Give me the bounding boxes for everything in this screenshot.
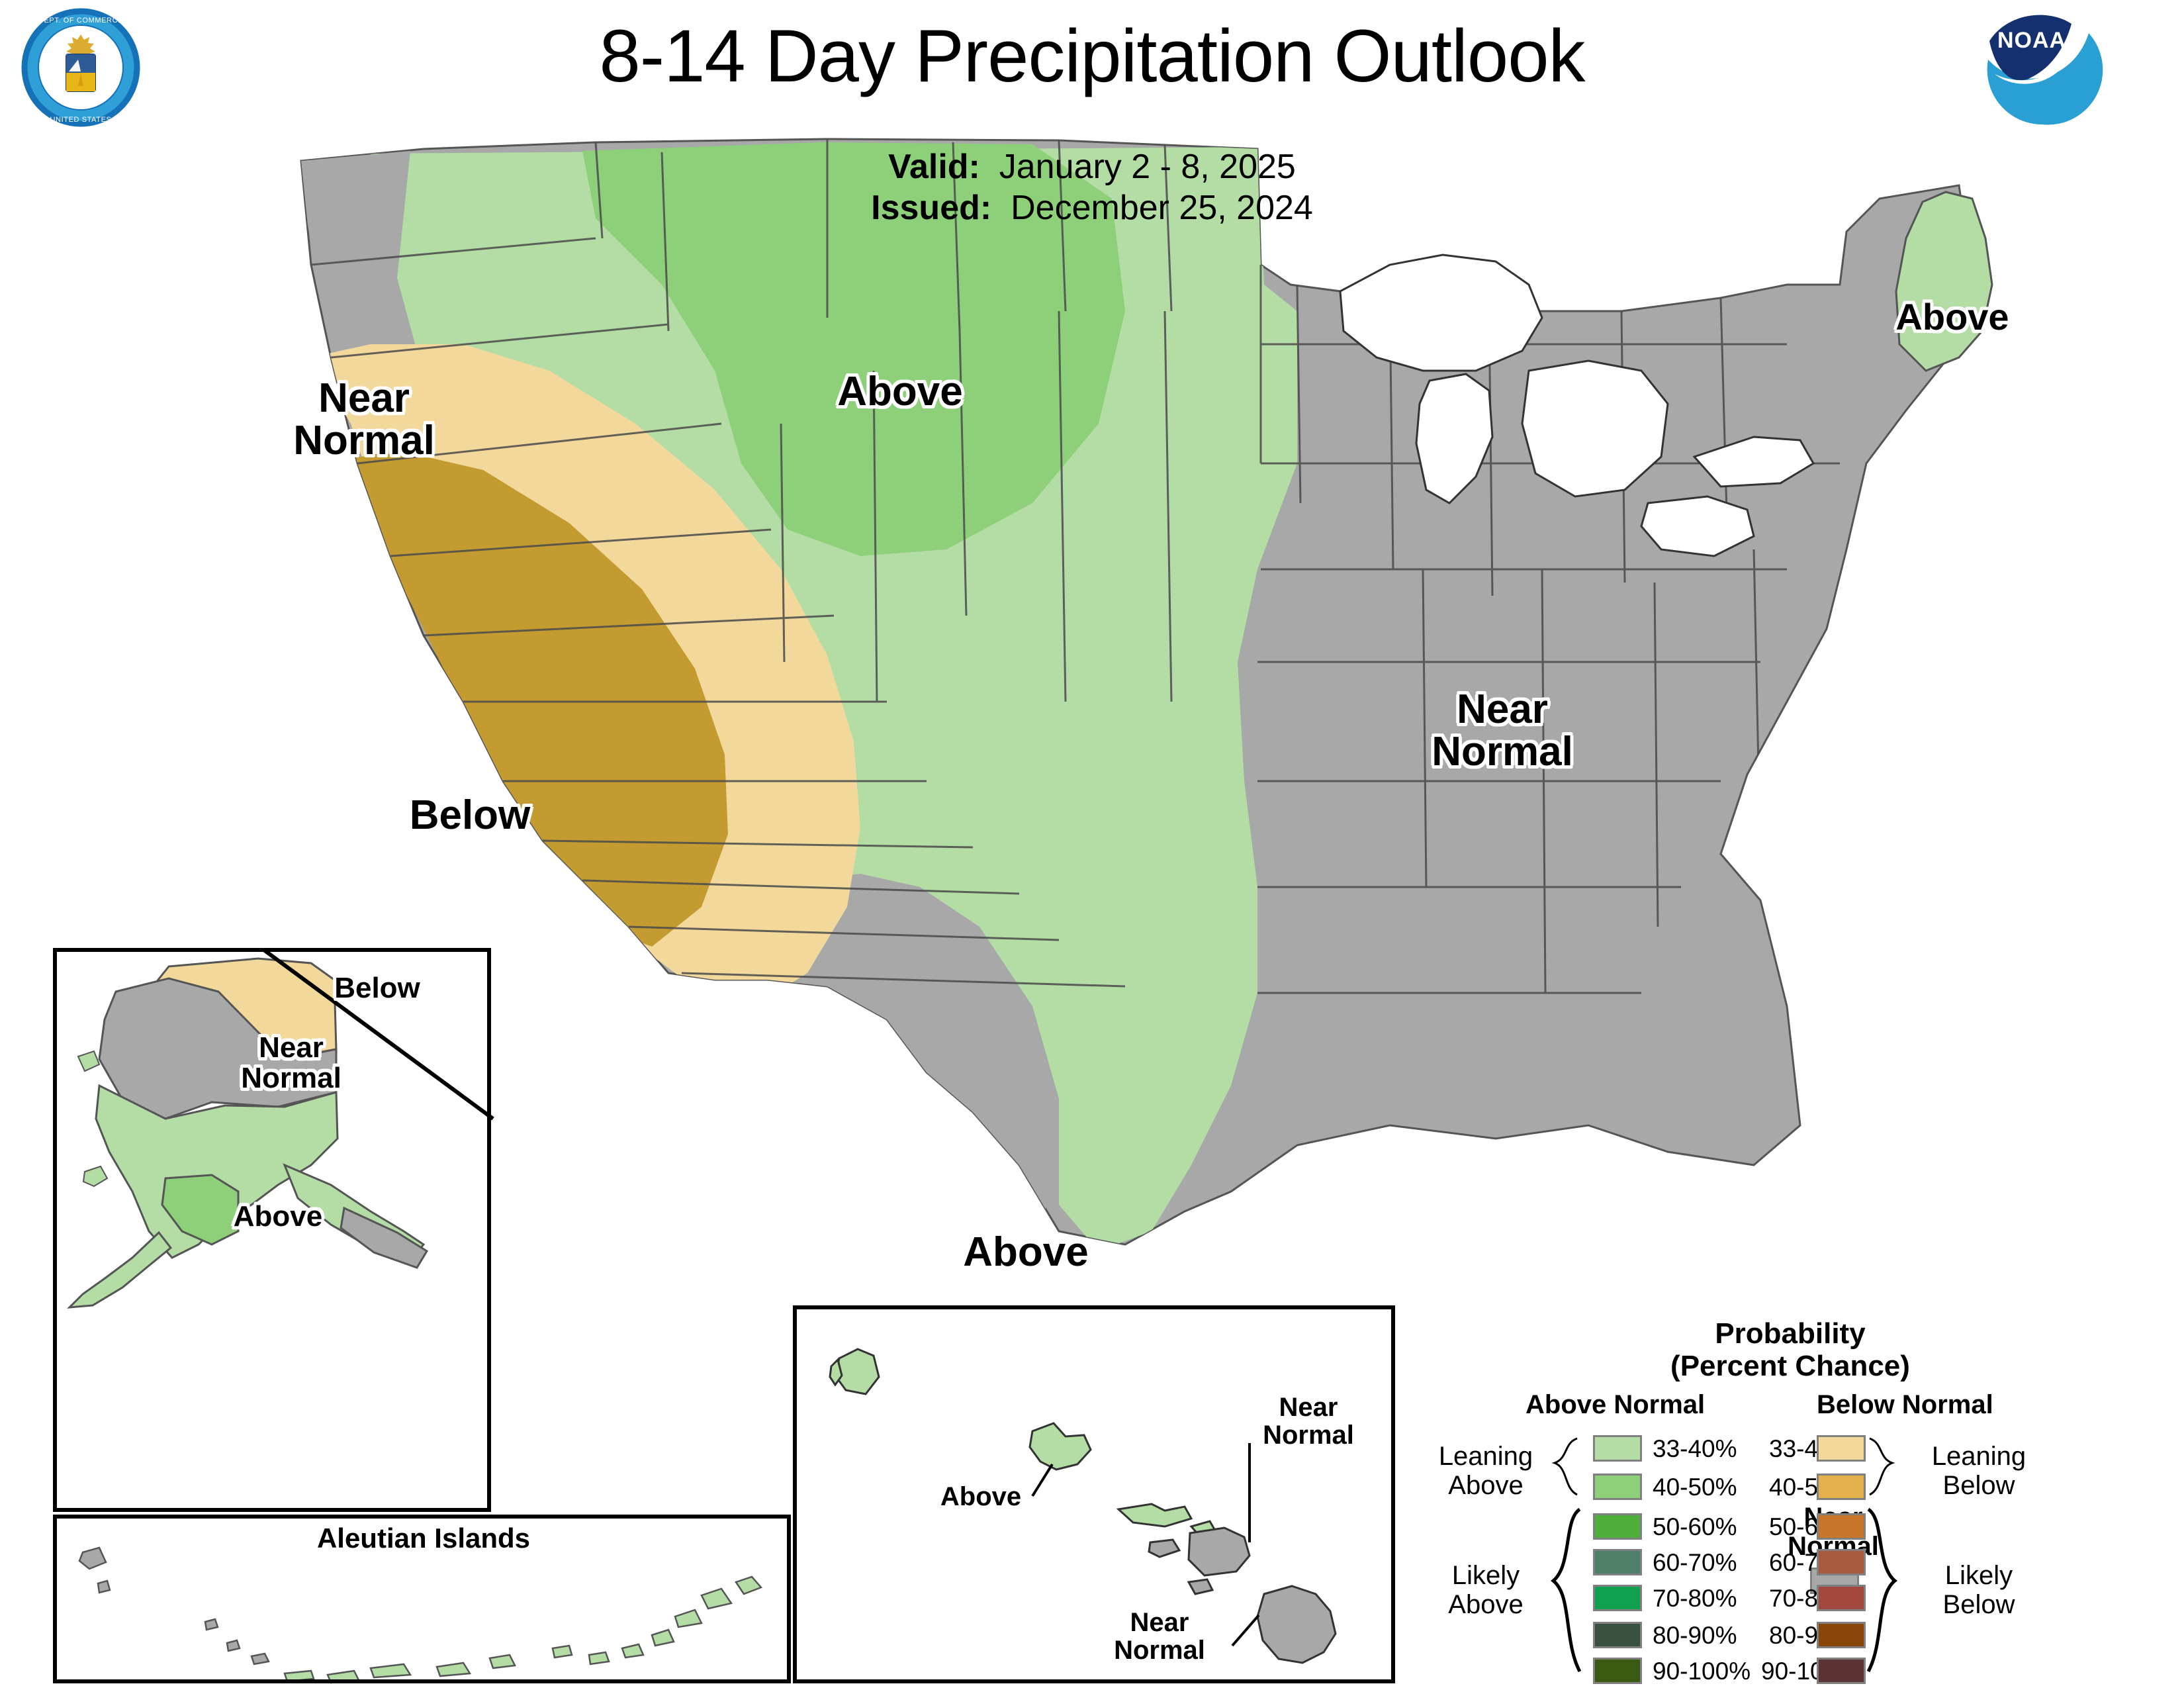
legend-swatch-above-60-70 bbox=[1593, 1549, 1642, 1575]
legend-swatch-above-90-100 bbox=[1593, 1658, 1642, 1684]
issued-date-line: Issued: December 25, 2024 bbox=[0, 188, 2184, 228]
label-northern-plains-above: Above bbox=[801, 371, 999, 413]
legend-swatch-below-80-90 bbox=[1817, 1622, 1866, 1648]
label-hawaii-oahu-above: Above bbox=[915, 1483, 1047, 1511]
legend-leaning-below-label: Leaning Below bbox=[1909, 1442, 2048, 1500]
legend-pct-above-40-50: 40-50% bbox=[1653, 1474, 1737, 1501]
legend-swatch-above-80-90 bbox=[1593, 1622, 1642, 1648]
legend-swatch-below-40-50 bbox=[1817, 1474, 1866, 1500]
label-southwest-below: Below bbox=[371, 794, 569, 837]
legend-pct-above-33-40: 33-40% bbox=[1653, 1435, 1737, 1463]
legend-swatch-above-40-50 bbox=[1593, 1474, 1642, 1500]
legend-swatch-below-50-60 bbox=[1817, 1513, 1866, 1540]
legend-pct-above-80-90: 80-90% bbox=[1653, 1622, 1737, 1650]
label-hawaii-maui-near-normal: Near Normal bbox=[1232, 1393, 1385, 1449]
legend: Probability(Percent Chance) Above Normal… bbox=[1406, 1317, 2174, 1688]
label-pacific-northwest-near-normal: Near Normal bbox=[265, 377, 463, 463]
legend-pct-above-60-70: 60-70% bbox=[1653, 1549, 1737, 1577]
legend-likely-above-label: Likely Above bbox=[1420, 1561, 1552, 1619]
legend-swatch-below-90-100 bbox=[1817, 1658, 1866, 1684]
alaska-inset-frame bbox=[53, 948, 491, 1512]
legend-likely-below-label: Likely Below bbox=[1909, 1561, 2048, 1619]
valid-label: Valid: bbox=[888, 148, 980, 186]
legend-swatch-above-50-60 bbox=[1593, 1513, 1642, 1540]
page-title: 8-14 Day Precipitation Outlook bbox=[0, 13, 2184, 99]
legend-swatch-below-33-40 bbox=[1817, 1435, 1866, 1462]
legend-swatch-below-70-80 bbox=[1817, 1585, 1866, 1611]
issued-value: December 25, 2024 bbox=[1011, 189, 1313, 227]
label-east-near-normal: Near Normal bbox=[1390, 688, 1615, 774]
aleutian-islands-title: Aleutian Islands bbox=[218, 1524, 629, 1553]
svg-text:UNITED STATES: UNITED STATES bbox=[50, 116, 112, 124]
legend-swatch-above-70-80 bbox=[1593, 1585, 1642, 1611]
valid-value: January 2 - 8, 2025 bbox=[999, 148, 1296, 186]
label-south-texas-above: Above bbox=[927, 1231, 1125, 1274]
issued-label: Issued: bbox=[871, 189, 991, 227]
valid-date-line: Valid: January 2 - 8, 2025 bbox=[0, 147, 2184, 187]
legend-leaning-above-label: Leaning Above bbox=[1420, 1442, 1552, 1500]
legend-pct-above-90-100: 90-100% bbox=[1653, 1658, 1751, 1685]
label-maine-above: Above bbox=[1853, 298, 2052, 336]
label-hawaii-bigisland-near-normal: Near Normal bbox=[1087, 1609, 1232, 1664]
legend-swatch-below-60-70 bbox=[1817, 1549, 1866, 1575]
legend-pct-above-70-80: 70-80% bbox=[1653, 1585, 1737, 1613]
legend-swatch-above-33-40 bbox=[1593, 1435, 1642, 1462]
legend-pct-above-50-60: 50-60% bbox=[1653, 1513, 1737, 1541]
